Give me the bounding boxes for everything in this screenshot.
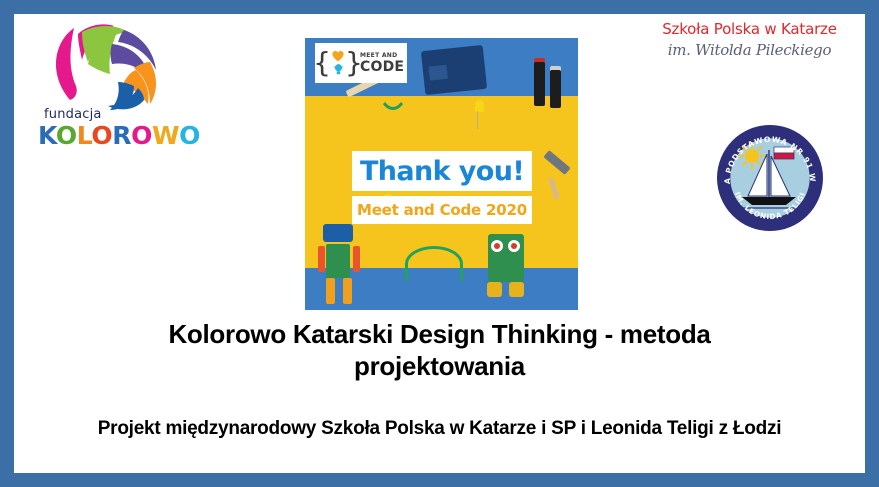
event-name-plate: Meet and Code 2020 — [352, 196, 532, 224]
meet-and-code-wordmark: MEET AND CODE — [360, 52, 404, 75]
right-brace-icon: } — [345, 49, 363, 77]
robot-left-prop — [319, 224, 361, 306]
kolorowo-letter-o: O — [131, 121, 152, 150]
battery-prop — [534, 62, 545, 106]
kolorowo-brand-word: KOLOROWO — [38, 122, 178, 149]
code-braces-icon: { } — [318, 46, 358, 80]
kolorowo-wordmark: fundacja KOLOROWO — [38, 108, 178, 149]
presentation-slide: fundacja KOLOROWO — [0, 0, 879, 487]
page-title: Kolorowo Katarski Design Thinking - meto… — [14, 318, 865, 382]
left-brace-icon: { — [313, 49, 331, 77]
slide-header-row: fundacja KOLOROWO — [14, 14, 865, 314]
thank-you-text: Thank you! — [360, 156, 524, 187]
badge-bottom-line: CODE — [360, 60, 404, 75]
school-name-text: Szkoła Polska w Katarze — [634, 20, 865, 39]
fundacja-kolorowo-logo: fundacja KOLOROWO — [32, 22, 182, 147]
school-patron-text: im. Witolda Pileckiego — [634, 40, 865, 60]
heart-bulb-icons — [331, 50, 345, 76]
lightbulb-icon — [333, 63, 344, 76]
kolorowo-letter-o: O — [91, 121, 112, 150]
meet-and-code-thank-you-image: { } MEET AND — [305, 38, 578, 310]
slide-title-block: Kolorowo Katarski Design Thinking - meto… — [14, 318, 865, 382]
kolorowo-letter-k: K — [38, 121, 56, 150]
kolorowo-letter-o: O — [179, 121, 200, 150]
green-wire-loop-prop — [405, 246, 463, 282]
kolorowo-foundation-word: fundacja — [44, 108, 178, 122]
school-crest-logo: SZKOŁA PODSTAWOWA NR 91 W ŁODZI IM. LEON… — [716, 124, 824, 232]
heart-icon — [331, 50, 345, 62]
kolorowo-letter-o: O — [56, 121, 77, 150]
arduino-board-prop — [421, 45, 487, 95]
resistor-prop — [548, 177, 560, 199]
kolorowo-swoosh-icon — [40, 22, 170, 110]
slide-subtitle-block: Projekt międzynarodowy Szkoła Polska w K… — [14, 417, 865, 441]
meet-and-code-logo-badge: { } MEET AND — [315, 43, 407, 83]
school-header: Szkoła Polska w Katarze im. Witolda Pile… — [634, 20, 865, 60]
kolorowo-letter-w: W — [152, 121, 179, 150]
led-legs-prop — [477, 111, 478, 129]
robot-right-prop — [482, 234, 530, 300]
event-name-text: Meet and Code 2020 — [357, 201, 527, 219]
thank-you-plate: Thank you! — [352, 151, 532, 191]
page-subtitle: Projekt międzynarodowy Szkoła Polska w K… — [14, 417, 865, 441]
cutter-knife-prop — [543, 150, 570, 175]
kolorowo-letter-r: R — [112, 121, 131, 150]
battery-second-prop — [550, 70, 561, 108]
kolorowo-letter-l: L — [77, 121, 92, 150]
